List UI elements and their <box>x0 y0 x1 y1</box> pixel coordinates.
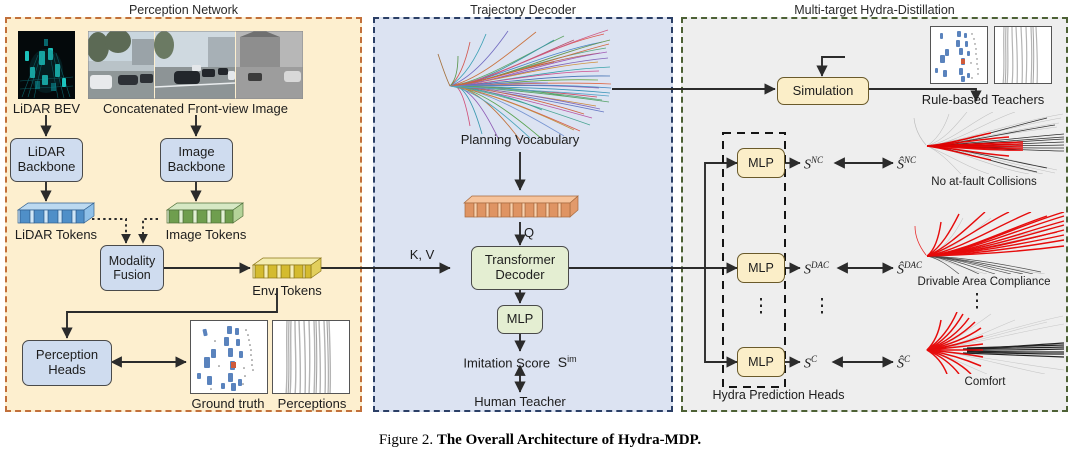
planning-vocabulary-label: Planning Vocabulary <box>430 132 610 147</box>
simulation-box[interactable]: Simulation <box>777 77 869 105</box>
teacher-score-nc-base: Ŝ <box>897 158 904 173</box>
query-tokens-stack <box>462 192 580 222</box>
metric-viz-no-at-fault-collisions <box>905 112 1065 174</box>
ground-truth-label: Ground truth <box>178 396 278 411</box>
imitation-score-superscript: im <box>567 354 577 364</box>
student-score-c-base: S <box>804 357 811 372</box>
hydra-mlp-label-nc: MLP <box>748 156 774 170</box>
metric-label-comfort: Comfort <box>940 376 1030 388</box>
metric-viz-comfort <box>905 312 1065 374</box>
metric-label-no-at-fault-collisions: No at-fault Collisions <box>900 176 1068 188</box>
imitation-score-text: Imitation Score <box>463 355 550 370</box>
student-score-nc-sup: NC <box>811 155 823 165</box>
perceptions-image <box>272 320 350 394</box>
lidar-bev-label: LiDAR BEV <box>0 101 93 116</box>
human-teacher-label: Human Teacher <box>450 394 590 409</box>
kv-label: K, V <box>400 247 444 262</box>
student-score-dac: SDAC <box>804 260 854 279</box>
lidar-bev-image <box>18 31 75 99</box>
metric-label-drivable-area-compliance: Drivable Area Compliance <box>892 276 1076 288</box>
modality-fusion-label-1: Modality <box>109 254 156 268</box>
hydra-mlp-box-nc[interactable]: MLP <box>737 148 785 178</box>
hydra-mlp-label-dac: MLP <box>748 261 774 275</box>
simulation-scene-image <box>930 26 988 84</box>
image-backbone-label-1: Image <box>178 145 214 160</box>
figure-caption: Figure 2. The Overall Architecture of Hy… <box>0 432 1080 449</box>
figure-caption-prefix: Figure 2. <box>379 432 437 448</box>
teacher-score-c-base: Ŝ <box>897 357 904 372</box>
hydra-mlp-ellipsis: ⋮ <box>737 305 785 309</box>
lidar-tokens-stack <box>16 200 96 226</box>
hydra-mlp-label-c: MLP <box>748 355 774 369</box>
transformer-decoder-label-1: Transformer <box>485 253 555 268</box>
student-score-nc: SNC <box>804 155 848 174</box>
lidar-backbone-label-1: LiDAR <box>28 145 66 160</box>
rule-based-teachers-label: Rule-based Teachers <box>898 92 1068 107</box>
hydra-metric-ellipsis-glyph: ⋮ <box>968 291 987 312</box>
perception-heads-label-2: Heads <box>48 363 86 378</box>
env-tokens-label: Env. Tokens <box>235 283 339 298</box>
perceptions-label: Perceptions <box>270 396 354 411</box>
hydra-mlp-ellipsis-glyph: ⋮ <box>752 296 771 317</box>
image-tokens-stack <box>165 200 245 226</box>
simulation-label: Simulation <box>793 84 854 99</box>
imitation-score-label: Imitation Score Sim <box>440 354 600 370</box>
imitation-score-symbol: S <box>558 354 567 370</box>
lidar-backbone-box[interactable]: LiDAR Backbone <box>10 138 83 182</box>
transformer-decoder-label-2: Decoder <box>495 268 544 283</box>
transformer-decoder-box[interactable]: Transformer Decoder <box>471 246 569 290</box>
trajectory-mlp-label: MLP <box>507 312 534 327</box>
image-backbone-box[interactable]: Image Backbone <box>160 138 233 182</box>
student-score-dac-base: S <box>804 263 811 278</box>
query-label: Q <box>524 225 544 240</box>
modality-fusion-label-2: Fusion <box>113 268 151 282</box>
panel-title-distillation: Multi-target Hydra-Distillation <box>681 3 1068 17</box>
student-score-c: SC <box>804 354 848 373</box>
image-backbone-label-2: Backbone <box>168 160 226 175</box>
hydra-score-ellipsis: ⋮ <box>800 305 844 309</box>
planning-vocabulary-fan <box>432 26 612 146</box>
student-score-dac-sup: DAC <box>811 260 829 270</box>
student-score-c-sup: C <box>811 354 817 364</box>
student-score-nc-base: S <box>804 158 811 173</box>
image-tokens-label: Image Tokens <box>152 227 260 242</box>
perception-heads-label-1: Perception <box>36 348 98 363</box>
hydra-mlp-box-c[interactable]: MLP <box>737 347 785 377</box>
front-view-image <box>88 31 303 99</box>
panel-title-perception: Perception Network <box>5 3 362 17</box>
trajectory-mlp-box[interactable]: MLP <box>497 305 543 334</box>
hydra-score-ellipsis-glyph: ⋮ <box>813 296 832 317</box>
ground-truth-image <box>190 320 268 394</box>
figure-caption-title: The Overall Architecture of Hydra-MDP. <box>437 432 701 448</box>
lidar-tokens-label: LiDAR Tokens <box>2 227 110 242</box>
front-view-label: Concatenated Front-view Image <box>83 101 308 116</box>
panel-title-trajectory: Trajectory Decoder <box>373 3 673 17</box>
lidar-backbone-label-2: Backbone <box>18 160 76 175</box>
simulation-lanes-image <box>994 26 1052 84</box>
env-tokens-stack <box>251 255 323 281</box>
perception-heads-box[interactable]: Perception Heads <box>22 340 112 386</box>
hydra-metric-ellipsis: ⋮ <box>955 300 999 304</box>
hydra-prediction-heads-label: Hydra Prediction Heads <box>686 388 871 402</box>
hydra-mlp-box-dac[interactable]: MLP <box>737 253 785 283</box>
metric-viz-drivable-area-compliance <box>905 212 1065 274</box>
modality-fusion-box[interactable]: Modality Fusion <box>100 245 164 291</box>
